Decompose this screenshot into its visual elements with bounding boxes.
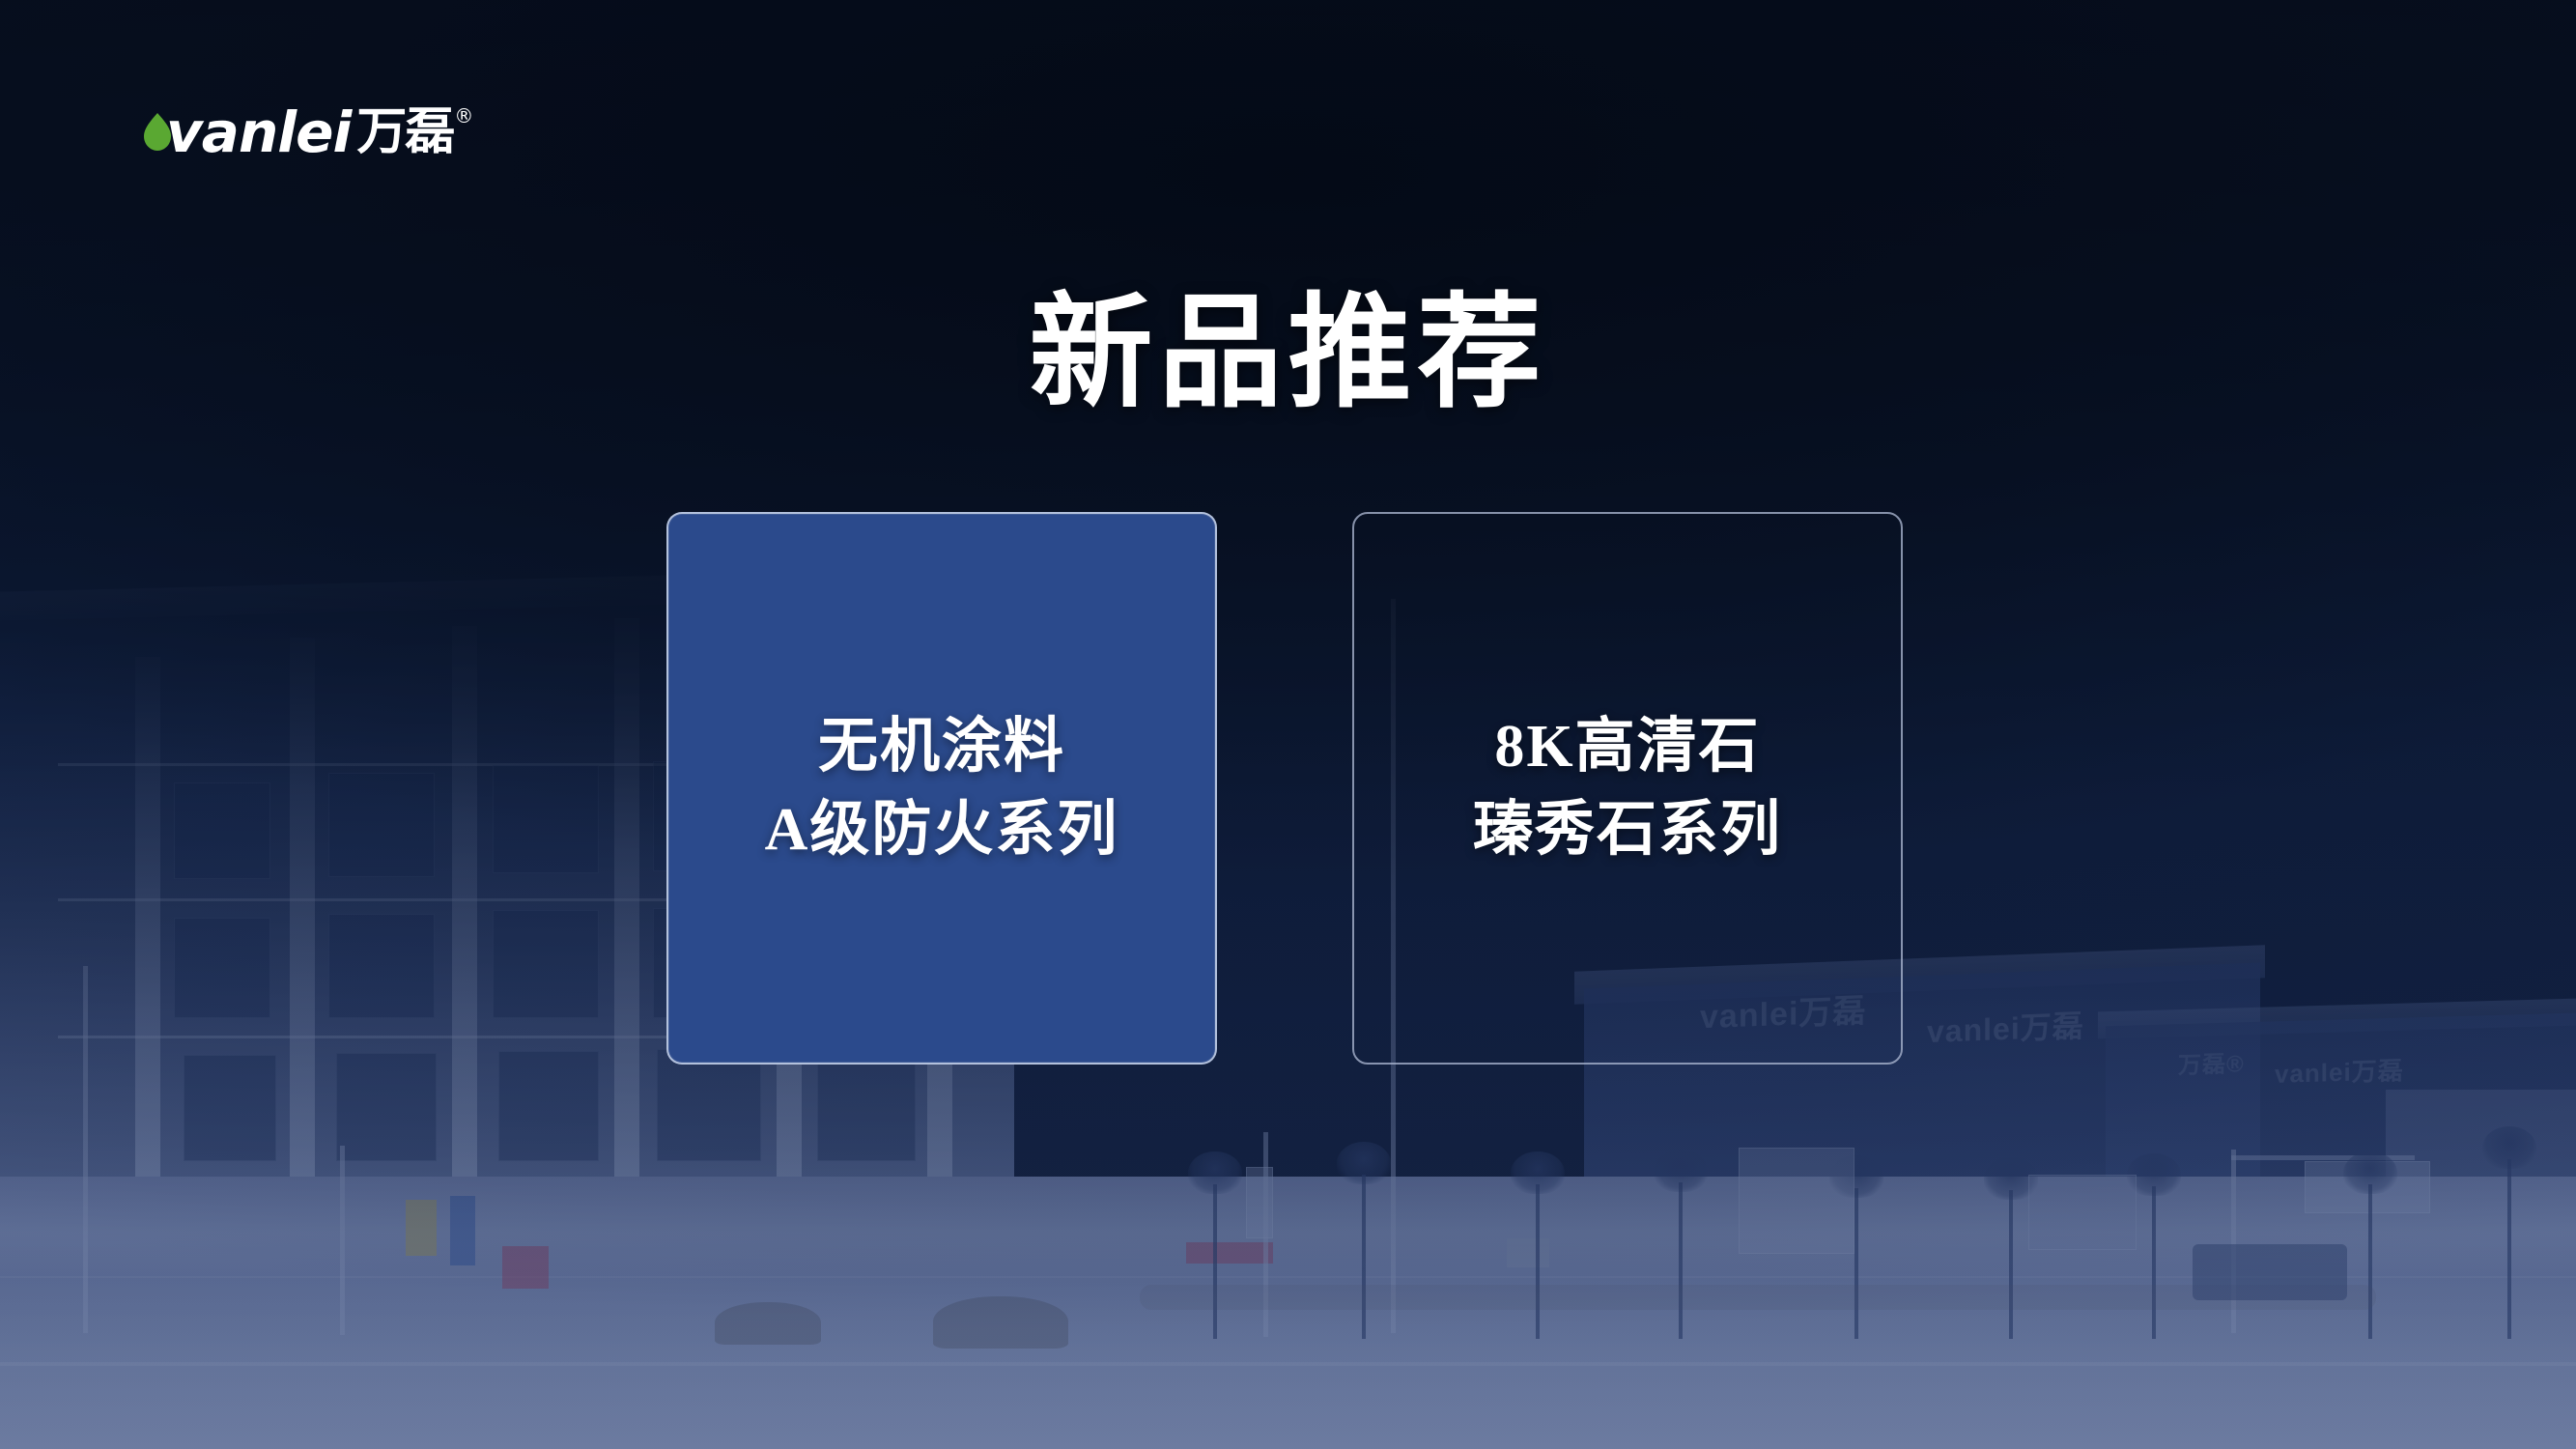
product-card-list: 无机涂料 A级防火系列 8K高清石 瑧秀石系列 [666, 512, 1903, 1065]
registered-trademark-icon: ® [454, 106, 473, 126]
product-card-8k-stone[interactable]: 8K高清石 瑧秀石系列 [1352, 512, 1903, 1065]
logo-chinese-name: 万磊 [356, 104, 453, 160]
product-card-line: 瑧秀石系列 [1473, 788, 1782, 871]
leaf-droplet-icon [143, 112, 172, 153]
product-card-line: A级防火系列 [765, 788, 1119, 871]
product-card-inorganic-coating[interactable]: 无机涂料 A级防火系列 [666, 512, 1217, 1065]
product-card-text: 无机涂料 A级防火系列 [751, 705, 1133, 871]
page-title: 新品推荐 [0, 281, 2576, 426]
logo-wordmark: vanlei [166, 104, 351, 160]
product-card-text: 8K高清石 瑧秀石系列 [1459, 705, 1796, 871]
product-card-line: 无机涂料 [765, 705, 1119, 788]
product-card-line: 8K高清石 [1473, 705, 1782, 788]
presentation-slide: vanlei万磊 vanlei万磊 vanlei万磊 万磊® [0, 0, 2576, 1449]
brand-logo: vanlei 万磊 ® [143, 104, 473, 172]
